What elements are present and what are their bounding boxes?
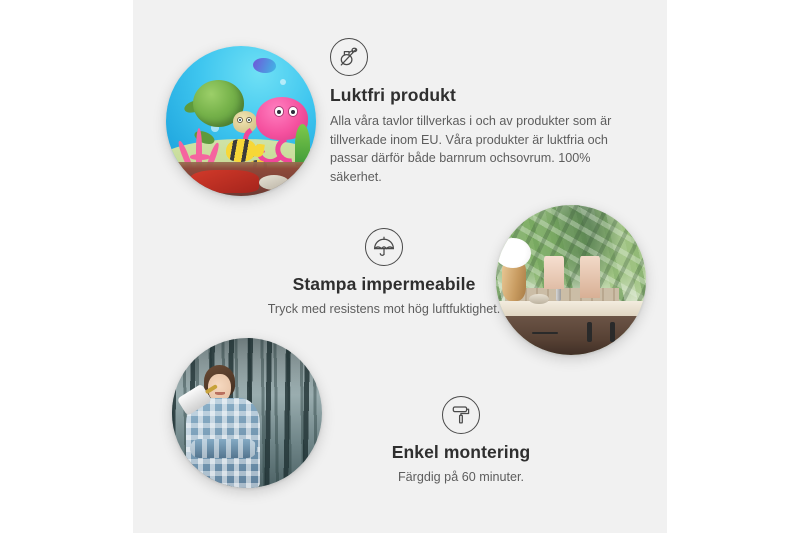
umbrella-icon [365, 228, 403, 266]
blue-fish-icon [253, 58, 276, 73]
feature-description: Alla våra tavlor tillverkas i och av pro… [330, 112, 630, 186]
vanity-cabinet [496, 316, 646, 355]
yellow-fish-icon [226, 139, 256, 162]
forest-artwork [172, 338, 322, 488]
forest-mural-image [172, 338, 322, 488]
feature-description: Tryck med resistens mot hög luftfuktighe… [210, 300, 558, 319]
paint-roller-icon [442, 396, 480, 434]
no-fragrance-icon [330, 38, 368, 76]
screenshot-root: Luktfri produkt Alla våra tavlor tillver… [0, 0, 800, 533]
feature-description: Färgdig på 60 minuter. [324, 468, 598, 487]
ocean-foreground-strip [166, 162, 316, 197]
feature-panel: Luktfri produkt Alla våra tavlor tillver… [133, 0, 667, 533]
feature-title: Enkel montering [324, 442, 598, 463]
feature-easy-mounting: Enkel montering Färgdig på 60 minuter. [324, 396, 598, 487]
feature-odour-free: Luktfri produkt Alla våra tavlor tillver… [330, 38, 630, 186]
ocean-mural-image [166, 46, 316, 196]
towel-icon [580, 256, 600, 298]
feature-title: Luktfri produkt [330, 85, 630, 106]
feature-title: Stampa impermeabile [210, 274, 558, 295]
bubble-icon [280, 79, 286, 85]
painter-person [181, 365, 271, 488]
feature-waterproof-print: Stampa impermeabile Tryck med resistens … [210, 228, 558, 319]
seagrass-icon [295, 124, 310, 166]
ocean-artwork [166, 46, 316, 196]
